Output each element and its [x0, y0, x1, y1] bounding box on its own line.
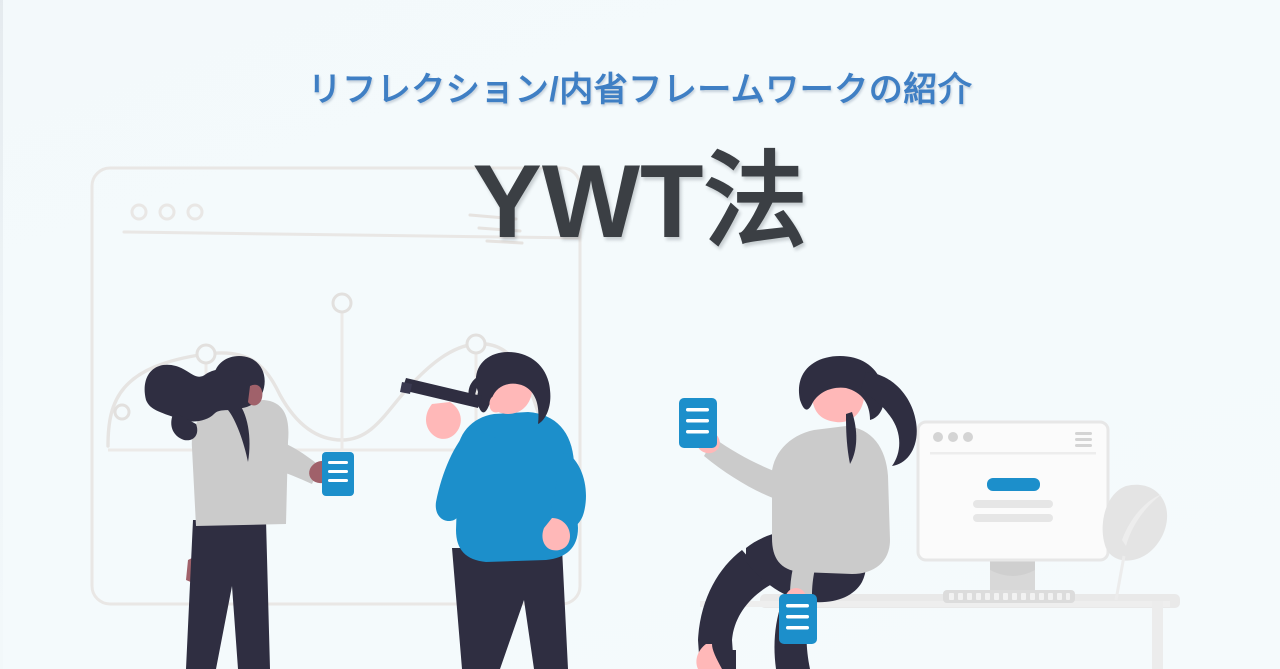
monitor-window-dots	[933, 432, 973, 442]
keyboard	[943, 590, 1075, 603]
monitor-blue-button	[987, 478, 1040, 491]
document-card-upper	[679, 398, 717, 448]
desk	[700, 594, 1180, 669]
figure-woman-standing	[145, 356, 354, 669]
plant-leaf	[1103, 485, 1167, 600]
desktop-monitor	[918, 422, 1108, 603]
slide-canvas: リフレクション/内省フレームワークの紹介 YWT法	[0, 0, 1280, 669]
monitor-hamburger-icon	[1075, 432, 1092, 447]
page-title: YWT法	[0, 148, 1280, 257]
figure-man-telescope	[400, 352, 586, 669]
document-card	[322, 452, 354, 496]
page-subtitle: リフレクション/内省フレームワークの紹介	[0, 62, 1280, 111]
document-card-lower	[779, 594, 817, 644]
figure-woman-sitting	[679, 356, 917, 669]
